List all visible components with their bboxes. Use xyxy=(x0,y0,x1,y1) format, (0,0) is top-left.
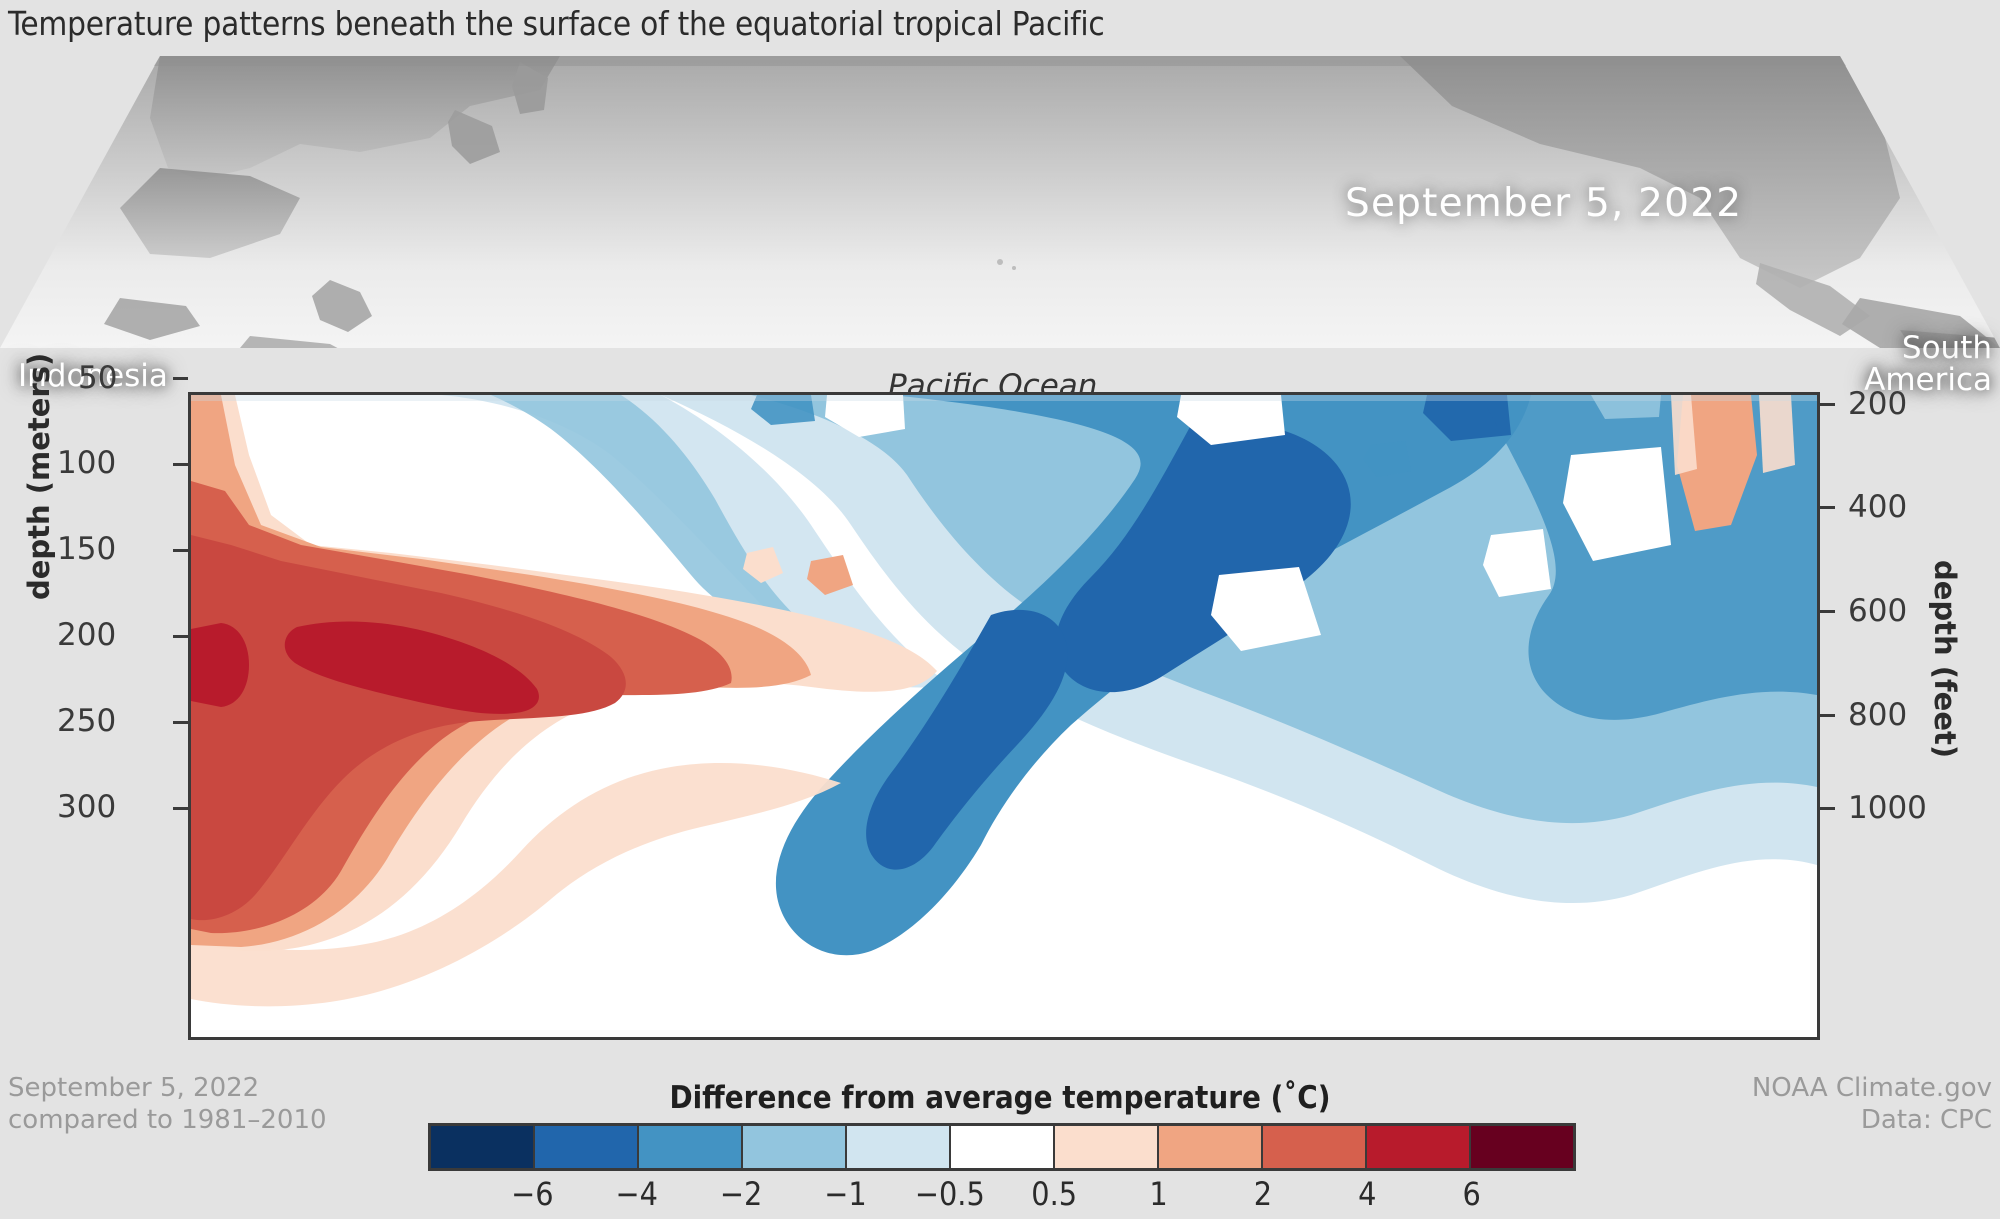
colorbar-tick-9: 6 xyxy=(1462,1175,1480,1213)
colorbar-cell-1 xyxy=(535,1126,639,1168)
colorbar-cell-3 xyxy=(743,1126,847,1168)
colorbar-cell-8 xyxy=(1263,1126,1367,1168)
surface-stripe xyxy=(191,395,1817,401)
colorbar-tick-7: 2 xyxy=(1254,1175,1272,1213)
colorbar-tick-8: 4 xyxy=(1358,1175,1376,1213)
depth-section-contour-plot xyxy=(188,392,1820,1040)
colorbar-tick-6: 1 xyxy=(1149,1175,1167,1213)
colorbar-cell-7 xyxy=(1159,1126,1263,1168)
left-tick-250: 250 xyxy=(57,703,116,739)
left-tick-mark-50 xyxy=(173,377,188,380)
right-tick-800: 800 xyxy=(1848,697,1907,733)
colorbar-tick-1: −4 xyxy=(616,1175,658,1213)
right-tick-mark-1000 xyxy=(1820,807,1835,810)
right-axis-title: depth (feet) xyxy=(1928,560,1962,758)
colorbar-tick-5: 0.5 xyxy=(1031,1175,1077,1213)
colorbar-title: Difference from average temperature (˚C) xyxy=(0,1080,2000,1116)
right-tick-mark-400 xyxy=(1820,506,1835,509)
right-tick-mark-600 xyxy=(1820,610,1835,613)
colorbar-tick-3: −1 xyxy=(824,1175,866,1213)
colorbar-cell-2 xyxy=(639,1126,743,1168)
right-tick-400: 400 xyxy=(1848,489,1907,525)
colorbar-cell-6 xyxy=(1055,1126,1159,1168)
map-panel: Indonesia Pacific Ocean South America Se… xyxy=(0,48,2000,398)
map-date-label: September 5, 2022 xyxy=(1345,181,1742,226)
right-tick-600: 600 xyxy=(1848,593,1907,629)
colorbar-swatches xyxy=(428,1123,1576,1171)
left-tick-mark-200 xyxy=(173,635,188,638)
map-horizon-shade xyxy=(154,56,1846,66)
colorbar-tick-0: −6 xyxy=(511,1175,553,1213)
colorbar-tick-2: −2 xyxy=(720,1175,762,1213)
left-tick-300: 300 xyxy=(57,789,116,825)
right-tick-mark-800 xyxy=(1820,714,1835,717)
left-tick-mark-150 xyxy=(173,549,188,552)
left-tick-200: 200 xyxy=(57,617,116,653)
colorbar-cell-5 xyxy=(951,1126,1055,1168)
left-axis-title: depth (meters) xyxy=(22,353,56,600)
page-title: Temperature patterns beneath the surface… xyxy=(8,4,1105,43)
right-tick-mark-200 xyxy=(1820,403,1835,406)
left-tick-50: 50 xyxy=(78,360,117,396)
left-tick-150: 150 xyxy=(57,531,116,567)
left-tick-mark-300 xyxy=(173,807,188,810)
right-tick-200: 200 xyxy=(1848,386,1907,422)
warm-core-plus6-edge xyxy=(191,623,249,707)
colorbar-cell-4 xyxy=(847,1126,951,1168)
warm-coastal-sliver-edge2 xyxy=(1759,395,1795,473)
left-tick-mark-100 xyxy=(173,463,188,466)
left-tick-100: 100 xyxy=(57,445,116,481)
left-tick-mark-250 xyxy=(173,721,188,724)
colorbar-cell-0 xyxy=(431,1126,535,1168)
colorbar-tick-4: −0.5 xyxy=(915,1175,985,1213)
temperature-anomaly-contours xyxy=(191,395,1817,1037)
colorbar-cell-9 xyxy=(1367,1126,1471,1168)
colorbar-cell-10 xyxy=(1471,1126,1573,1168)
colorbar-tick-labels: −6−4−2−1−0.50.51246 xyxy=(428,1175,1576,1217)
right-tick-1000: 1000 xyxy=(1848,790,1927,826)
